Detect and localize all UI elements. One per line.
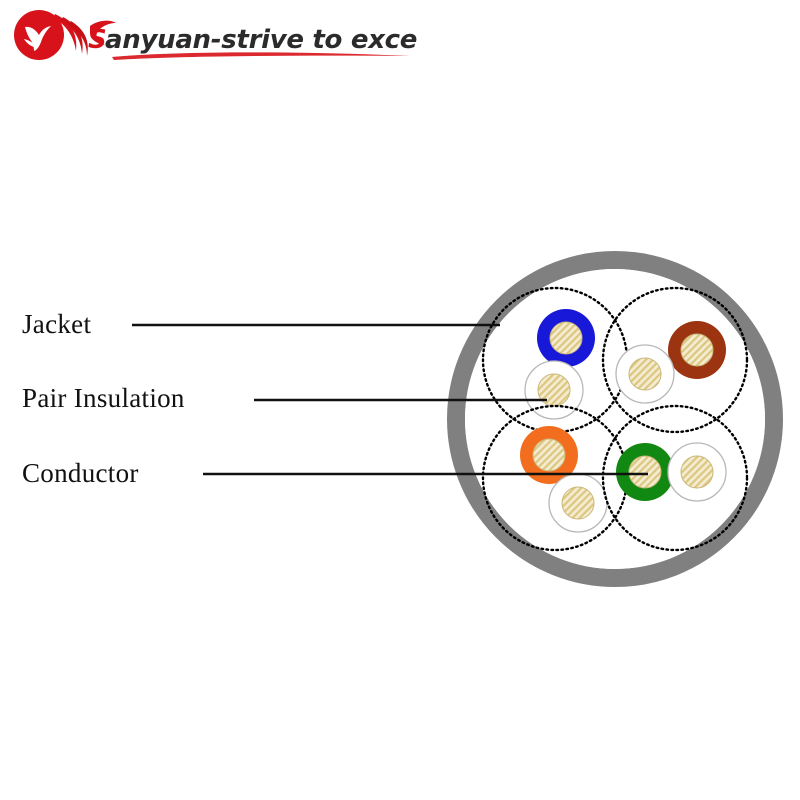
conductor-green-white <box>681 456 713 488</box>
conductor-brown <box>681 334 713 366</box>
conductor-blue <box>550 322 582 354</box>
conductor-green <box>629 456 661 488</box>
conductor-orange <box>533 439 565 471</box>
cable-core-fill <box>465 269 765 569</box>
callout-label-pair-insulation: Pair Insulation <box>22 383 185 414</box>
callout-label-conductor: Conductor <box>22 458 139 489</box>
callout-label-jacket: Jacket <box>22 309 91 340</box>
conductor-orange-white <box>562 487 594 519</box>
conductor-brown-white <box>629 358 661 390</box>
